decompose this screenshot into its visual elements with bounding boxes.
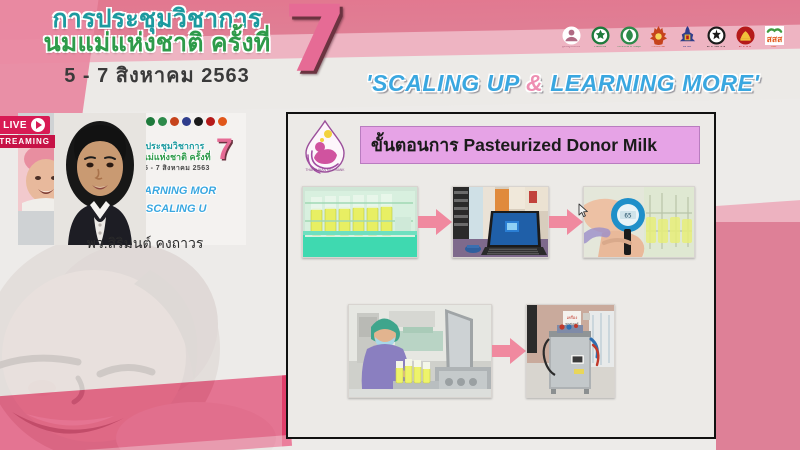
sponsor-logo-2: กระทรวงสาธารณสุข — [618, 26, 640, 56]
child-watermark-image — [0, 228, 282, 450]
live-streaming-badge: LIVE STREAMING — [0, 116, 55, 148]
poster-date: 5 - 7 สิงหาคม 2563 — [144, 163, 210, 174]
background-band-right-pink — [716, 222, 800, 450]
sponsor-logo-5-caption: สภาการพยาบาล — [707, 46, 726, 49]
live-label: LIVE — [3, 120, 27, 131]
tagline-ampersand: & — [526, 70, 543, 96]
speaker-video-feed — [54, 113, 146, 245]
arrow-right-1 — [418, 209, 452, 235]
photo-handheld-thermometer: 65 — [583, 186, 695, 258]
svg-text:65: 65 — [624, 213, 632, 220]
conference-date: 5 - 7 สิงหาคม 2563 — [22, 59, 292, 91]
sponsor-logo-4: สมาคม — [676, 26, 698, 56]
tagline-part1: 'SCALING UP — [366, 70, 526, 96]
sponsor-logo-strip: มูลนิธิศูนย์นมแม่ กรมอนามัย กระทรวงสาธาร… — [560, 26, 785, 56]
poster-logo-strip — [134, 117, 227, 126]
live-badge-top: LIVE — [0, 116, 50, 134]
sponsor-logo-1-caption: กรมอนามัย — [594, 46, 607, 49]
slide-title-banner: ขั้นตอนการ Pasteurized Donor Milk — [360, 126, 700, 164]
sponsor-logo-0-caption: มูลนิธิศูนย์นมแม่ — [562, 46, 580, 49]
poster-logo-3 — [170, 117, 179, 126]
process-row-1: 65 — [302, 186, 702, 258]
poster-tagline-2: SCALING U — [146, 203, 207, 215]
process-row-2: เครื่อง พาสเจอร์ ไรซ์ — [348, 304, 698, 398]
slide-title: ขั้นตอนการ Pasteurized Donor Milk — [371, 131, 657, 159]
sponsor-logo-3-caption: ราชวิทยาลัย — [651, 46, 665, 49]
photo-milk-bottles-rack — [302, 186, 418, 258]
presentation-slide: THAI HUMAN MILK BANK ขั้นตอนการ Pasteuri… — [286, 112, 716, 439]
poster-edition-number: 7 — [216, 135, 233, 165]
sponsor-logo-3: ราชวิทยาลัย — [647, 26, 669, 56]
photo-laptop-workstation — [452, 186, 549, 258]
sponsor-logo-6-caption: สภากาชาด — [739, 46, 752, 49]
sponsor-logo-4-caption: สมาคม — [683, 46, 691, 49]
photo-nurse-loading-pasteurizer — [348, 304, 492, 398]
photo-pasteurizer-machine: เครื่อง พาสเจอร์ ไรซ์ — [526, 304, 615, 398]
conference-tagline: 'SCALING UP & LEARNING MORE' — [366, 70, 760, 97]
sponsor-logo-2-caption: กระทรวงสาธารณสุข — [617, 46, 640, 49]
svg-text:สสส: สสส — [766, 35, 782, 45]
arrow-right-3 — [492, 338, 526, 364]
sponsor-logo-5: สภาการพยาบาล — [705, 26, 727, 56]
screenshot-root: การประชุมวิชาการ นมแม่แห่งชาติ ครั้งที่ … — [0, 0, 800, 450]
slide-header: THAI HUMAN MILK BANK ขั้นตอนการ Pasteuri… — [288, 114, 714, 176]
sponsor-logo-7: สสส สสส. — [763, 26, 785, 56]
sponsor-logo-6: สภากาชาด — [734, 26, 756, 56]
mouse-pointer — [578, 203, 589, 218]
human-milk-bank-drop-logo: THAI HUMAN MILK BANK — [296, 117, 354, 175]
poster-logo-1 — [146, 117, 155, 126]
conference-title-block: การประชุมวิชาการ นมแม่แห่งชาติ ครั้งที่ … — [22, 6, 292, 91]
edition-number: 7 — [283, 0, 347, 86]
svg-text:THAI HUMAN MILK BANK: THAI HUMAN MILK BANK — [305, 168, 345, 172]
sponsor-logo-1: กรมอนามัย — [589, 26, 611, 56]
conference-title-line2: นมแม่แห่งชาติ ครั้งที่ — [22, 30, 292, 56]
poster-logo-5 — [194, 117, 203, 126]
play-icon — [31, 118, 45, 132]
poster-logo-7 — [218, 117, 227, 126]
sponsor-logo-0: มูลนิธิศูนย์นมแม่ — [560, 26, 582, 56]
poster-logo-2 — [158, 117, 167, 126]
svg-text:เครื่อง: เครื่อง — [567, 315, 578, 320]
streaming-label: STREAMING — [0, 135, 55, 148]
poster-logo-4 — [182, 117, 191, 126]
poster-logo-6 — [206, 117, 215, 126]
tagline-part2: LEARNING MORE' — [543, 70, 759, 96]
speaker-name: พว.สิริมนต์ คงถาวร — [30, 233, 260, 255]
sponsor-logo-7-caption: สสส. — [771, 46, 776, 49]
